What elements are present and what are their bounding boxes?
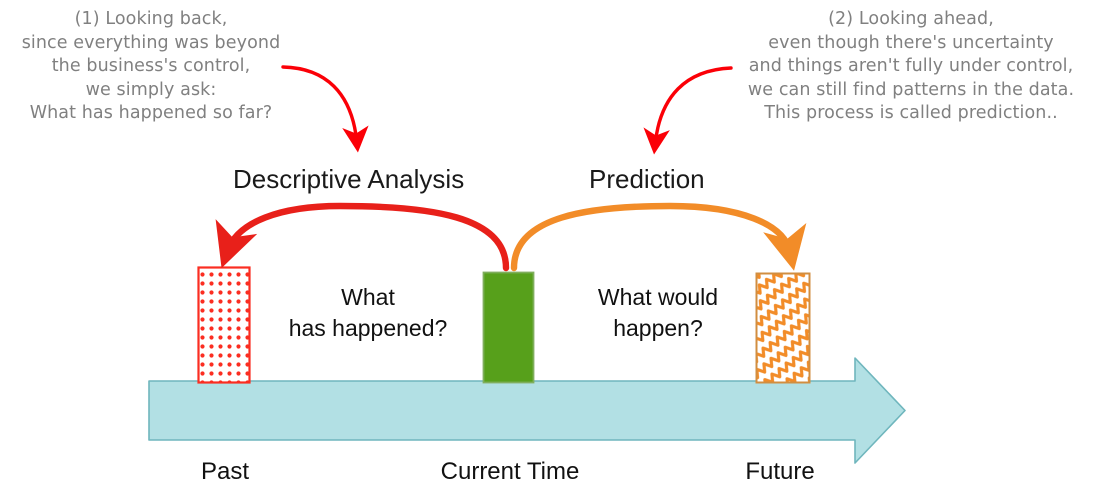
past-bar [199,268,250,383]
axis-caption-current-time: Current Time [420,458,600,486]
annotation-right-line-4: we can still find patterns in the data. [726,79,1096,103]
time-arrow [149,358,905,463]
axis-caption-past: Past [150,458,300,486]
annotation-right-line-5: This process is called prediction.. [726,102,1096,126]
annotation-left-line-4: we simply ask: [6,79,296,103]
future-question-line-2: happen? [613,315,703,341]
current-bar [484,273,534,383]
diagram-canvas: (1) Looking back, since everything was b… [0,0,1100,495]
past-question-line-2: has happened? [289,315,448,341]
annotation-right-line-3: and things aren't fully under control, [726,55,1096,79]
annotation-left-line-3: the business's control, [6,55,296,79]
past-question: What has happened? [268,282,468,344]
annotation-right-line-1: (2) Looking ahead, [726,8,1096,32]
past-question-line-1: What [341,284,395,310]
prediction-arc [514,206,790,268]
annotation-looking-ahead: (2) Looking ahead, even though there's u… [726,8,1096,126]
future-question-line-1: What would [598,284,718,310]
descriptive-analysis-label: Descriptive Analysis [233,164,464,194]
future-bar [757,274,810,383]
annotation-right-line-2: even though there's uncertainty [726,32,1096,56]
annotation-left-line-1: (1) Looking back, [6,8,296,32]
annotation-left-line-2: since everything was beyond [6,32,296,56]
descriptive-analysis-arc [228,206,506,268]
prediction-label: Prediction [589,164,705,194]
axis-caption-future: Future [705,458,855,486]
future-question: What would happen? [568,282,748,344]
red-pointer-arrow-right [655,68,731,145]
annotation-left-line-5: What has happened so far? [6,102,296,126]
annotation-looking-back: (1) Looking back, since everything was b… [6,8,296,126]
